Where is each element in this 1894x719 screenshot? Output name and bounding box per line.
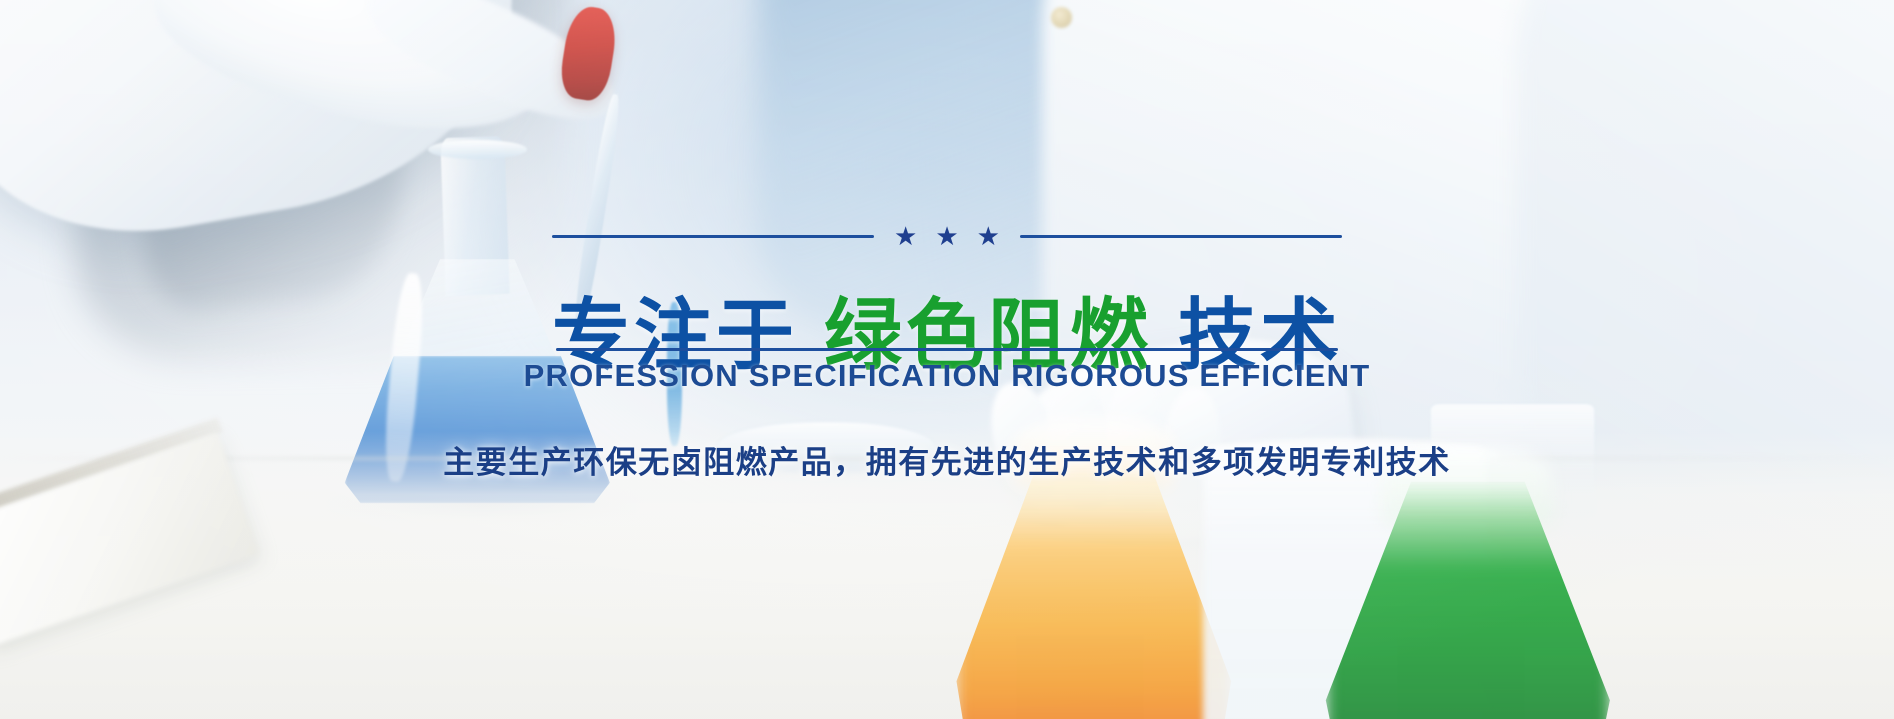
hero-banner: ★ ★ ★ 专注于绿色阻燃技术 PROFESSION SPECIFICATION…	[0, 0, 1894, 719]
star-icon: ★	[977, 223, 1000, 249]
headline-underline	[556, 348, 1338, 351]
star-group: ★ ★ ★	[890, 223, 1004, 249]
star-icon: ★	[935, 223, 958, 249]
star-icon: ★	[894, 223, 917, 249]
rule-left	[552, 235, 874, 238]
rule-right	[1020, 235, 1342, 238]
decorative-rule-row: ★ ★ ★	[552, 223, 1342, 249]
banner-description-chinese: 主要生产环保无卤阻燃产品，拥有先进的生产技术和多项发明专利技术	[443, 437, 1451, 482]
banner-text-overlay: ★ ★ ★ 专注于绿色阻燃技术 PROFESSION SPECIFICATION…	[0, 0, 1894, 719]
banner-subtitle-english: PROFESSION SPECIFICATION RIGOROUS EFFICI…	[524, 358, 1371, 394]
